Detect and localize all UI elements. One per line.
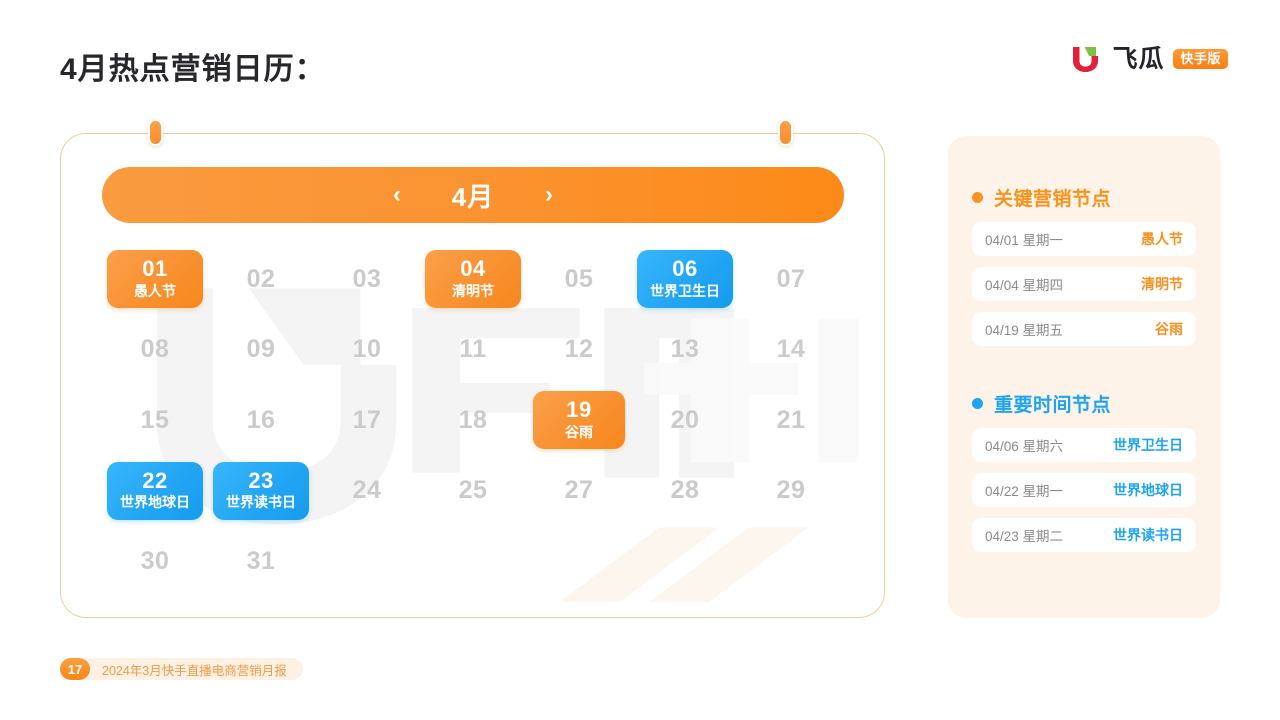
day-cell: 05 xyxy=(526,244,632,315)
day-cell: 31 xyxy=(208,526,314,597)
day-number: 19 xyxy=(566,398,591,421)
month-navigation-bar: ‹ 4月 › xyxy=(102,167,844,223)
list-item[interactable]: 04/06 星期六世界卫生日 xyxy=(972,428,1196,462)
entry-event-label: 世界读书日 xyxy=(1113,525,1183,545)
side-panel: 关键营销节点04/01 星期一愚人节04/04 星期四清明节04/19 星期五谷… xyxy=(948,136,1220,618)
day-cell[interactable]: 06世界卫生日 xyxy=(632,244,738,315)
entry-date: 04/01 星期一 xyxy=(985,229,1063,249)
page-title: 4月热点营销日历： xyxy=(60,44,326,88)
day-number: 15 xyxy=(141,406,170,435)
day-cell: 13 xyxy=(632,315,738,386)
list-item[interactable]: 04/22 星期一世界地球日 xyxy=(972,473,1196,507)
footer: 17 2024年3月快手直播电商营销月报 xyxy=(60,658,303,680)
day-cell[interactable]: 22世界地球日 xyxy=(102,456,208,527)
list-item[interactable]: 04/01 星期一愚人节 xyxy=(972,222,1196,256)
chevron-right-icon[interactable]: › xyxy=(538,183,560,207)
card-pin-right xyxy=(778,119,793,146)
day-number: 10 xyxy=(353,335,382,364)
day-number: 06 xyxy=(672,257,697,280)
slide-root: 4月热点营销日历： 飞瓜 快手版 xyxy=(0,0,1280,720)
day-number: 22 xyxy=(142,469,167,492)
day-cell[interactable]: 04清明节 xyxy=(420,244,526,315)
day-number: 12 xyxy=(565,335,594,364)
day-cell[interactable]: 01愚人节 xyxy=(102,244,208,315)
day-cell: 15 xyxy=(102,385,208,456)
entry-date: 04/23 星期二 xyxy=(985,525,1063,545)
day-number: 02 xyxy=(247,265,276,294)
day-number: 31 xyxy=(247,547,276,576)
day-cell: 29 xyxy=(738,456,844,527)
section-header: 重要时间节点 xyxy=(972,390,1196,417)
day-cell: 10 xyxy=(314,315,420,386)
day-chip[interactable]: 22世界地球日 xyxy=(107,462,203,520)
list-item[interactable]: 04/19 星期五谷雨 xyxy=(972,312,1196,346)
day-chip[interactable]: 06世界卫生日 xyxy=(637,250,733,308)
day-cell[interactable]: 19谷雨 xyxy=(526,385,632,456)
entry-date: 04/04 星期四 xyxy=(985,274,1063,294)
day-number: 17 xyxy=(353,406,382,435)
brand-name: 飞瓜 xyxy=(1112,47,1164,72)
day-number: 05 xyxy=(565,265,594,294)
day-number: 27 xyxy=(565,476,594,505)
day-number: 14 xyxy=(777,335,806,364)
day-number: 23 xyxy=(248,469,273,492)
day-number: 28 xyxy=(671,476,700,505)
footer-caption: 2024年3月快手直播电商营销月报 xyxy=(76,658,303,680)
day-cell: 03 xyxy=(314,244,420,315)
day-number: 20 xyxy=(671,406,700,435)
panel-section-key-marketing: 关键营销节点04/01 星期一愚人节04/04 星期四清明节04/19 星期五谷… xyxy=(948,136,1220,346)
day-number: 24 xyxy=(353,476,382,505)
entry-event-label: 愚人节 xyxy=(1141,229,1183,249)
entry-date: 04/06 星期六 xyxy=(985,435,1063,455)
day-event-label: 世界地球日 xyxy=(120,494,190,512)
day-grid: 01愚人节020304清明节0506世界卫生日07080910111213141… xyxy=(102,244,844,597)
day-cell: 07 xyxy=(738,244,844,315)
day-number: 04 xyxy=(460,257,485,280)
section-title: 关键营销节点 xyxy=(994,184,1111,211)
day-cell: 21 xyxy=(738,385,844,456)
brand-badge: 快手版 xyxy=(1173,49,1228,69)
day-number: 25 xyxy=(459,476,488,505)
day-chip[interactable]: 04清明节 xyxy=(425,250,521,308)
day-number: 18 xyxy=(459,406,488,435)
day-cell: 14 xyxy=(738,315,844,386)
day-event-label: 愚人节 xyxy=(134,283,176,301)
day-cell: 12 xyxy=(526,315,632,386)
entry-date: 04/22 星期一 xyxy=(985,480,1063,500)
section-header: 关键营销节点 xyxy=(972,184,1196,211)
day-number: 30 xyxy=(141,547,170,576)
day-number: 13 xyxy=(671,335,700,364)
feigua-swirl-icon xyxy=(1069,45,1103,73)
day-number: 01 xyxy=(142,257,167,280)
day-cell: 28 xyxy=(632,456,738,527)
day-number: 03 xyxy=(353,265,382,294)
card-pin-left xyxy=(148,119,163,146)
day-number: 08 xyxy=(141,335,170,364)
day-event-label: 清明节 xyxy=(452,283,494,301)
chevron-left-icon[interactable]: ‹ xyxy=(386,183,408,207)
entry-date: 04/19 星期五 xyxy=(985,319,1063,339)
day-cell: 16 xyxy=(208,385,314,456)
entry-event-label: 世界卫生日 xyxy=(1113,435,1183,455)
day-cell: 27 xyxy=(526,456,632,527)
day-event-label: 谷雨 xyxy=(565,424,593,442)
day-cell: 30 xyxy=(102,526,208,597)
day-event-label: 世界卫生日 xyxy=(650,283,720,301)
entry-event-label: 清明节 xyxy=(1141,274,1183,294)
calendar-card: ‹ 4月 › 01愚人节020304清明节0506世界卫生日0708091011… xyxy=(60,133,885,618)
panel-section-important-dates: 重要时间节点04/06 星期六世界卫生日04/22 星期一世界地球日04/23 … xyxy=(948,346,1220,552)
brand-logo: 飞瓜 快手版 xyxy=(1069,42,1228,76)
page-number-badge: 17 xyxy=(60,658,90,680)
day-number: 09 xyxy=(247,335,276,364)
day-cell: 25 xyxy=(420,456,526,527)
day-event-label: 世界读书日 xyxy=(226,494,296,512)
month-label: 4月 xyxy=(438,177,508,214)
day-cell: 17 xyxy=(314,385,420,456)
day-cell: 09 xyxy=(208,315,314,386)
day-number: 11 xyxy=(459,335,486,364)
day-chip[interactable]: 01愚人节 xyxy=(107,250,203,308)
day-chip[interactable]: 23世界读书日 xyxy=(213,462,309,520)
entry-event-label: 世界地球日 xyxy=(1113,480,1183,500)
day-number: 21 xyxy=(777,406,806,435)
day-number: 16 xyxy=(247,406,276,435)
list-item[interactable]: 04/04 星期四清明节 xyxy=(972,267,1196,301)
entry-event-label: 谷雨 xyxy=(1155,319,1183,339)
day-cell: 08 xyxy=(102,315,208,386)
bullet-dot-icon xyxy=(972,192,983,203)
list-item[interactable]: 04/23 星期二世界读书日 xyxy=(972,518,1196,552)
day-cell: 11 xyxy=(420,315,526,386)
day-cell: 24 xyxy=(314,456,420,527)
day-number: 07 xyxy=(777,265,806,294)
day-cell: 18 xyxy=(420,385,526,456)
day-cell[interactable]: 23世界读书日 xyxy=(208,456,314,527)
day-number: 29 xyxy=(777,476,806,505)
day-chip[interactable]: 19谷雨 xyxy=(533,391,625,449)
bullet-dot-icon xyxy=(972,398,983,409)
day-cell: 02 xyxy=(208,244,314,315)
day-cell: 20 xyxy=(632,385,738,456)
section-title: 重要时间节点 xyxy=(994,390,1111,417)
